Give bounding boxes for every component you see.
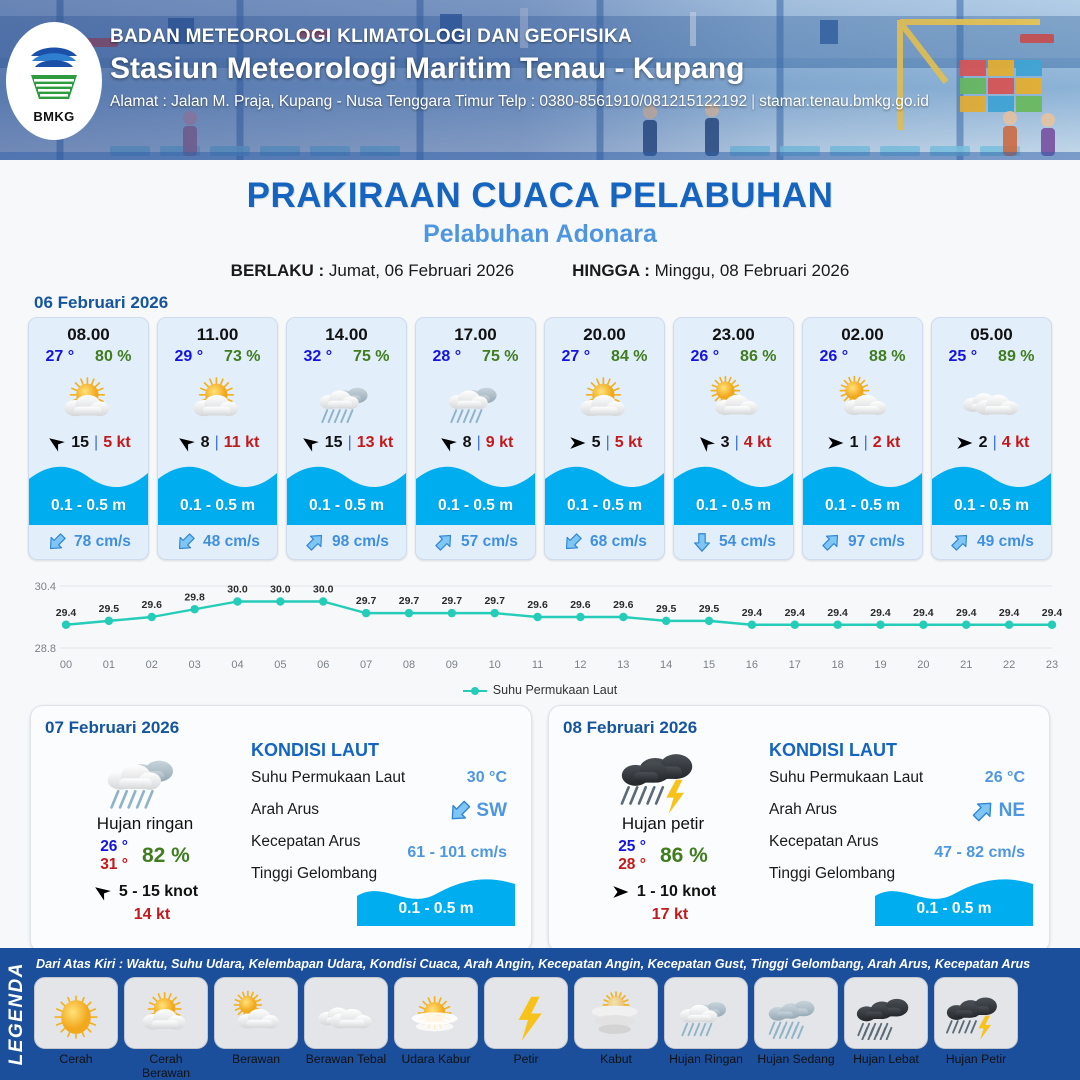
panel-body: Hujan petir 25 ° 28 ° 86 % 1 - 10 knot 1… [563,740,1035,924]
current-direction-arrow [970,798,996,824]
card-wind-separator: | [864,434,868,452]
card-wave-height: 0.1 - 0.5 m [158,497,277,515]
panel-condition: Hujan ringan [45,814,245,834]
legend-item: Hujan Lebat [844,977,928,1080]
svg-text:29.8: 29.8 [184,591,205,603]
panel-gust: 14 kt [59,906,245,924]
svg-text:29.4: 29.4 [827,607,848,619]
svg-text:18: 18 [832,659,844,671]
title-block: PRAKIRAAN CUACA PELABUHAN Pelabuhan Adon… [0,160,1080,281]
legend-item-label: Kabut [574,1052,658,1066]
chart-legend: Suhu Permukaan Laut [0,683,1080,697]
svg-text:22: 22 [1003,659,1015,671]
svg-text:29.6: 29.6 [527,599,548,611]
sst-chart-svg: 30.428.829.40029.50129.60229.80330.00430… [18,570,1062,682]
legend-item: Hujan Sedang [754,977,838,1080]
card-temperature: 28 ° [432,348,461,366]
valid-to-group: HINGGA : Minggu, 08 Februari 2026 [572,261,849,281]
svg-text:15: 15 [703,659,715,671]
panel-sea-title: KONDISI LAUT [769,740,1035,761]
current-direction-arrow [820,531,842,553]
card-temp-humidity-row: 26 ° 86 % [674,347,793,369]
port-name: Pelabuhan Adonara [0,220,1080,249]
legend-item: Cerah [34,977,118,1080]
card-weather-icon [158,369,277,429]
svg-text:29.7: 29.7 [442,595,463,607]
legend-item: Berawan [214,977,298,1080]
wind-direction-arrow [696,433,716,453]
panel-current-speed-value: 61 - 101 cm/s [407,844,507,862]
svg-text:29.5: 29.5 [656,603,677,615]
card-wave-height: 0.1 - 0.5 m [932,497,1051,515]
card-temp-humidity-row: 29 ° 73 % [158,347,277,369]
panel-left: Hujan ringan 26 ° 31 ° 82 % 5 - 15 knot … [45,740,245,924]
weather-icon-berawan [818,371,908,427]
card-wind-row: 8 | 11 kt [158,429,277,457]
sst-chart: 30.428.829.40029.50129.60229.80330.00430… [18,570,1062,682]
panel-temp-column: 25 ° 28 ° [618,838,646,874]
header-org-name: BADAN METEOROLOGI KLIMATOLOGI DAN GEOFIS… [110,26,929,48]
card-temp-humidity-row: 32 ° 75 % [287,347,406,369]
header-website: stamar.tenau.bmkg.go.id [759,93,929,110]
forecast-card: 23.00 26 ° 86 % 3 | 4 kt 0.1 - 0.5 m 54 … [673,317,794,560]
card-current-speed: 97 cm/s [848,533,905,551]
svg-text:29.4: 29.4 [785,607,806,619]
card-humidity: 73 % [224,348,260,366]
card-wind-row: 1 | 2 kt [803,429,922,457]
card-current-row: 78 cm/s [29,525,148,559]
panel-sea-title: KONDISI LAUT [251,740,517,761]
legend-item: Udara Kabur [394,977,478,1080]
wind-direction-arrow [92,882,112,902]
panel-body: Hujan ringan 26 ° 31 ° 82 % 5 - 15 knot … [45,740,517,924]
forecast-card: 11.00 29 ° 73 % 8 | 11 kt 0.1 - 0.5 m 48… [157,317,278,560]
card-wind-separator: | [94,434,98,452]
card-wind-speed: 5 [592,434,601,452]
card-humidity: 75 % [353,348,389,366]
panel-wind-row: 5 - 15 knot [45,882,245,902]
panel-right: KONDISI LAUT Suhu Permukaan Laut Arah Ar… [763,740,1035,924]
header-separator: | [747,93,759,110]
bmkg-logo-text: BMKG [33,109,74,124]
header-bottom-strip [0,152,1080,160]
panel-current-speed-value: 47 - 82 cm/s [934,844,1025,862]
legend-icon-box [484,977,568,1049]
svg-text:29.4: 29.4 [1042,607,1062,619]
svg-text:04: 04 [231,659,243,671]
wind-direction-arrow [438,433,458,453]
card-humidity: 75 % [482,348,518,366]
panel-temp-column: 26 ° 31 ° [100,838,128,874]
card-wind-row: 3 | 4 kt [674,429,793,457]
wind-direction-arrow [46,433,66,453]
forecast-card: 05.00 25 ° 89 % 2 | 4 kt 0.1 - 0.5 m 49 … [931,317,1052,560]
chart-legend-swatch [463,685,487,695]
forecast-card: 02.00 26 ° 88 % 1 | 2 kt 0.1 - 0.5 m 97 … [802,317,923,560]
panel-sst-value: 26 °C [985,769,1025,787]
card-gust: 9 kt [486,434,514,452]
wind-direction-arrow [300,433,320,453]
valid-from-label: BERLAKU : [231,261,325,280]
card-temperature: 26 ° [690,348,719,366]
legend-icon-box [844,977,928,1049]
wind-direction-arrow [825,433,845,453]
panel-wind-range: 1 - 10 knot [637,883,716,901]
legend-icon-box [34,977,118,1049]
svg-text:29.7: 29.7 [399,595,420,607]
panel-date: 08 Februari 2026 [563,718,1035,738]
card-current-speed: 49 cm/s [977,533,1034,551]
card-current-speed: 78 cm/s [74,533,131,551]
legend-item-label: Berawan Tebal [304,1052,388,1066]
panel-sst-value: 30 °C [467,769,507,787]
card-wave-block: 0.1 - 0.5 m [416,457,535,525]
svg-text:13: 13 [617,659,629,671]
weather-icon-cerah [35,986,117,1040]
header-text-block: BADAN METEOROLOGI KLIMATOLOGI DAN GEOFIS… [110,26,929,111]
header-address: Alamat : Jalan M. Praja, Kupang - Nusa T… [110,93,747,110]
current-direction-arrow [949,531,971,553]
card-wind-row: 5 | 5 kt [545,429,664,457]
header-address-line: Alamat : Jalan M. Praja, Kupang - Nusa T… [110,93,929,111]
panel-temps: 26 ° 31 ° 82 % [45,838,245,874]
legend-main: Dari Atas Kiri : Waktu, Suhu Udara, Kele… [34,948,1080,1080]
panel-current-dir-text: SW [476,800,507,822]
svg-text:29.5: 29.5 [99,603,120,615]
svg-text:30.0: 30.0 [270,584,291,596]
valid-from-group: BERLAKU : Jumat, 06 Februari 2026 [231,261,514,281]
legend-icon-box [304,977,388,1049]
card-time: 17.00 [416,318,535,347]
wind-direction-arrow [567,433,587,453]
day-panels-row: 07 Februari 2026 Hujan ringan 26 ° 31 ° … [0,697,1080,953]
panel-humidity: 86 % [660,844,708,868]
card-time: 11.00 [158,318,277,347]
svg-text:28.8: 28.8 [35,643,56,655]
panel-temp-min: 25 ° [618,838,646,856]
weather-icon-hujan-petir [935,986,1017,1040]
header-station-name: Stasiun Meteorologi Maritim Tenau - Kupa… [110,52,929,86]
card-temperature: 27 ° [45,348,74,366]
card-wind-row: 8 | 9 kt [416,429,535,457]
validity-row: BERLAKU : Jumat, 06 Februari 2026 HINGGA… [0,261,1080,281]
svg-text:29.4: 29.4 [56,607,77,619]
card-wind-speed: 8 [201,434,210,452]
valid-from-value: Jumat, 06 Februari 2026 [329,261,514,280]
svg-text:29.6: 29.6 [570,599,591,611]
day-panel: 07 Februari 2026 Hujan ringan 26 ° 31 ° … [30,705,532,953]
legend-side-bar: LEGENDA [0,948,34,1080]
card-wave-height: 0.1 - 0.5 m [287,497,406,515]
weather-icon-cerah-berawan [125,986,207,1040]
legend-item: Hujan Ringan [664,977,748,1080]
svg-text:03: 03 [188,659,200,671]
svg-text:29.5: 29.5 [699,603,720,615]
card-temperature: 32 ° [303,348,332,366]
current-direction-arrow [304,531,326,553]
card-wind-separator: | [735,434,739,452]
current-direction-arrow [175,531,197,553]
panel-date: 07 Februari 2026 [45,718,517,738]
svg-text:07: 07 [360,659,372,671]
weather-icon-hujan-ringan [665,986,747,1040]
card-current-row: 97 cm/s [803,525,922,559]
card-current-row: 98 cm/s [287,525,406,559]
panel-temp-max: 31 ° [100,856,128,874]
svg-text:30.0: 30.0 [227,584,248,596]
svg-text:17: 17 [789,659,801,671]
weather-icon-hujan-ringan [84,738,206,814]
card-humidity: 88 % [869,348,905,366]
legend-item-label: Cerah Berawan [124,1052,208,1080]
card-temperature: 27 ° [561,348,590,366]
wind-direction-arrow [954,433,974,453]
card-wind-row: 2 | 4 kt [932,429,1051,457]
panel-condition: Hujan petir [563,814,763,834]
legend-item-label: Petir [484,1052,568,1066]
bmkg-logo: BMKG [6,22,102,140]
wind-direction-arrow [610,882,630,902]
panel-wave-block: 0.1 - 0.5 m [357,870,515,926]
panel-current-dir-value: SW [447,798,507,824]
card-weather-icon [932,369,1051,429]
card-wind-speed: 2 [979,434,988,452]
legend-icon-box [934,977,1018,1049]
card-weather-icon [287,369,406,429]
panel-right: KONDISI LAUT Suhu Permukaan Laut Arah Ar… [245,740,517,924]
card-humidity: 80 % [95,348,131,366]
card-current-speed: 98 cm/s [332,533,389,551]
card-wave-block: 0.1 - 0.5 m [29,457,148,525]
card-wind-speed: 8 [463,434,472,452]
weather-icon-berawan [689,371,779,427]
card-humidity: 86 % [740,348,776,366]
svg-text:06: 06 [317,659,329,671]
card-wave-block: 0.1 - 0.5 m [287,457,406,525]
card-wave-block: 0.1 - 0.5 m [545,457,664,525]
card-temp-humidity-row: 27 ° 80 % [29,347,148,369]
card-wave-height: 0.1 - 0.5 m [416,497,535,515]
current-direction-arrow [562,531,584,553]
panel-temp-max: 28 ° [618,856,646,874]
day-panel: 08 Februari 2026 Hujan petir 25 ° 28 ° 8… [548,705,1050,953]
svg-text:16: 16 [746,659,758,671]
card-temperature: 29 ° [174,348,203,366]
svg-text:19: 19 [874,659,886,671]
card-wind-speed: 15 [71,434,89,452]
forecast-date-label: 06 Februari 2026 [34,293,1080,313]
card-weather-icon [674,369,793,429]
card-current-row: 48 cm/s [158,525,277,559]
legend-note: Dari Atas Kiri : Waktu, Suhu Udara, Kele… [34,952,1074,977]
card-wind-speed: 1 [850,434,859,452]
card-temp-humidity-row: 28 ° 75 % [416,347,535,369]
panel-gust: 17 kt [577,906,763,924]
svg-text:29.7: 29.7 [356,595,377,607]
panel-wind-range: 5 - 15 knot [119,883,198,901]
panel-weather-icon [563,740,763,812]
weather-icon-berawan [215,986,297,1040]
card-current-row: 68 cm/s [545,525,664,559]
weather-icon-berawan-tebal [305,986,387,1040]
card-wave-block: 0.1 - 0.5 m [803,457,922,525]
card-gust: 2 kt [873,434,901,452]
legend-item-label: Hujan Sedang [754,1052,838,1066]
svg-text:14: 14 [660,659,672,671]
weather-icon-berawan-tebal [947,371,1037,427]
legend-item-label: Hujan Lebat [844,1052,928,1066]
card-current-row: 49 cm/s [932,525,1051,559]
card-wave-height: 0.1 - 0.5 m [29,497,148,515]
card-weather-icon [545,369,664,429]
card-wave-block: 0.1 - 0.5 m [674,457,793,525]
card-time: 05.00 [932,318,1051,347]
card-wave-height: 0.1 - 0.5 m [674,497,793,515]
legend-item: Petir [484,977,568,1080]
svg-text:29.4: 29.4 [742,607,763,619]
card-humidity: 89 % [998,348,1034,366]
svg-text:11: 11 [532,659,543,671]
card-gust: 5 kt [103,434,131,452]
panel-weather-icon [45,740,245,812]
weather-icon-cerah-berawan [44,371,134,427]
current-direction-arrow [46,531,68,553]
weather-icon-udara-kabur [395,986,477,1040]
legend-item: Cerah Berawan [124,977,208,1080]
panel-left: Hujan petir 25 ° 28 ° 86 % 1 - 10 knot 1… [563,740,763,924]
weather-icon-cerah-berawan [560,371,650,427]
card-wave-height: 0.1 - 0.5 m [545,497,664,515]
current-direction-arrow [433,531,455,553]
svg-text:29.7: 29.7 [484,595,505,607]
panel-wave-height: 0.1 - 0.5 m [357,900,515,918]
current-direction-arrow [447,798,473,824]
card-temp-humidity-row: 27 ° 84 % [545,347,664,369]
panel-temps: 25 ° 28 ° 86 % [563,838,763,874]
svg-text:29.6: 29.6 [142,599,163,611]
chart-legend-label: Suhu Permukaan Laut [493,683,617,697]
card-wind-separator: | [993,434,997,452]
card-temperature: 26 ° [819,348,848,366]
panel-temp-min: 26 ° [100,838,128,856]
forecast-card: 08.00 27 ° 80 % 15 | 5 kt 0.1 - 0.5 m 78… [28,317,149,560]
weather-icon-hujan-ringan [302,371,392,427]
legend-side-label: LEGENDA [6,962,28,1065]
legend-item-label: Berawan [214,1052,298,1066]
forecast-card: 17.00 28 ° 75 % 8 | 9 kt 0.1 - 0.5 m 57 … [415,317,536,560]
svg-text:09: 09 [446,659,458,671]
legend-icon-box [754,977,838,1049]
card-time: 23.00 [674,318,793,347]
legend-icon-box [394,977,478,1049]
card-time: 14.00 [287,318,406,347]
svg-text:05: 05 [274,659,286,671]
valid-to-value: Minggu, 08 Februari 2026 [655,261,850,280]
svg-text:12: 12 [574,659,586,671]
svg-text:29.6: 29.6 [613,599,634,611]
svg-text:23: 23 [1046,659,1058,671]
weather-icon-petir [485,986,567,1040]
legend-icon-box [664,977,748,1049]
weather-icon-hujan-ringan [431,371,521,427]
weather-icon-hujan-lebat [845,986,927,1040]
card-gust: 11 kt [224,434,260,452]
svg-text:29.4: 29.4 [956,607,977,619]
valid-to-label: HINGGA : [572,261,650,280]
panel-current-dir-value: NE [970,798,1025,824]
svg-text:21: 21 [960,659,972,671]
card-wind-speed: 3 [721,434,730,452]
panel-wave-height: 0.1 - 0.5 m [875,900,1033,918]
card-temp-humidity-row: 26 ° 88 % [803,347,922,369]
current-direction-arrow [691,531,713,553]
svg-text:10: 10 [489,659,501,671]
card-current-row: 57 cm/s [416,525,535,559]
card-current-speed: 54 cm/s [719,533,776,551]
card-weather-icon [803,369,922,429]
panel-wind-row: 1 - 10 knot [563,882,763,902]
forecast-card: 20.00 27 ° 84 % 5 | 5 kt 0.1 - 0.5 m 68 … [544,317,665,560]
forecast-card: 14.00 32 ° 75 % 15 | 13 kt 0.1 - 0.5 m 9… [286,317,407,560]
svg-text:30.4: 30.4 [35,581,56,593]
svg-text:01: 01 [103,659,115,671]
panel-current-dir-text: NE [999,800,1025,822]
legend-item-label: Hujan Petir [934,1052,1018,1066]
card-humidity: 84 % [611,348,647,366]
card-wind-separator: | [606,434,610,452]
weather-icon-hujan-petir [602,738,724,814]
card-wind-speed: 15 [325,434,343,452]
svg-text:30.0: 30.0 [313,584,334,596]
card-gust: 5 kt [615,434,643,452]
card-wave-block: 0.1 - 0.5 m [158,457,277,525]
card-wind-row: 15 | 5 kt [29,429,148,457]
wind-direction-arrow [176,433,196,453]
svg-text:08: 08 [403,659,415,671]
legend-items-row: Cerah Cerah Berawan Berawan Berawan Teba… [34,977,1074,1080]
card-weather-icon [29,369,148,429]
page-title: PRAKIRAAN CUACA PELABUHAN [0,176,1080,216]
panel-wave-block: 0.1 - 0.5 m [875,870,1033,926]
forecast-cards-row: 08.00 27 ° 80 % 15 | 5 kt 0.1 - 0.5 m 78… [0,317,1080,560]
card-current-speed: 68 cm/s [590,533,647,551]
svg-text:02: 02 [146,659,158,671]
card-time: 02.00 [803,318,922,347]
bmkg-logo-mark [23,39,85,107]
svg-text:00: 00 [60,659,72,671]
card-wind-row: 15 | 13 kt [287,429,406,457]
panel-humidity: 82 % [142,844,190,868]
svg-text:29.4: 29.4 [999,607,1020,619]
svg-text:20: 20 [917,659,929,671]
card-current-speed: 57 cm/s [461,533,518,551]
card-gust: 13 kt [357,434,393,452]
legend-item: Hujan Petir [934,977,1018,1080]
weather-icon-kabut [575,986,657,1040]
legend-icon-box [214,977,298,1049]
weather-icon-cerah-berawan [173,371,263,427]
card-time: 20.00 [545,318,664,347]
page-header: BMKG BADAN METEOROLOGI KLIMATOLOGI DAN G… [0,0,1080,160]
svg-text:29.4: 29.4 [870,607,891,619]
card-time: 08.00 [29,318,148,347]
legend-item-label: Udara Kabur [394,1052,478,1066]
card-gust: 4 kt [1002,434,1030,452]
card-wave-block: 0.1 - 0.5 m [932,457,1051,525]
card-current-row: 54 cm/s [674,525,793,559]
card-wind-separator: | [215,434,219,452]
weather-icon-hujan-sedang [755,986,837,1040]
